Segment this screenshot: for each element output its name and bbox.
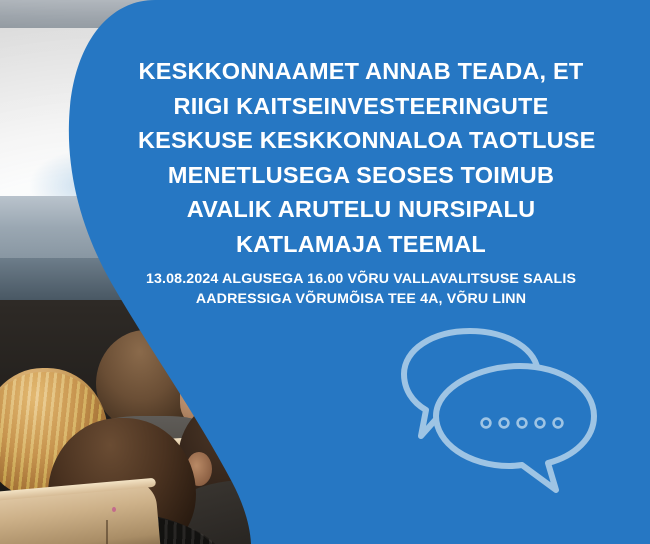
headline-line-4: MENETLUSEGA SEOSES TOIMUB [138,158,584,193]
speech-bubbles-icon [396,326,608,496]
page-title: KESKKONNAAMET ANNAB TEADA, ET RIIGI KAIT… [138,54,584,261]
headline-line-1: KESKKONNAAMET ANNAB TEADA, ET [138,54,584,89]
poster-text-block: KESKKONNAAMET ANNAB TEADA, ET RIIGI KAIT… [138,54,584,309]
event-details: 13.08.2024 ALGUSEGA 16.00 VÕRU VALLAVALI… [138,270,584,309]
event-details-line-1: 13.08.2024 ALGUSEGA 16.00 VÕRU VALLAVALI… [138,270,584,290]
headline-line-5: AVALIK ARUTELU NURSIPALU [138,192,584,227]
headline-line-2: RIIGI KAITSEINVESTEERINGUTE [138,89,584,124]
headline-line-3: KESKUSE KESKKONNALOA TAOTLUSE [138,123,584,158]
poster: KESKKONNAAMET ANNAB TEADA, ET RIIGI KAIT… [0,0,650,544]
headline-line-6: KATLAMAJA TEEMAL [138,227,584,262]
event-details-line-2: AADRESSIGA VÕRUMÕISA TEE 4A, VÕRU LINN [138,290,584,310]
